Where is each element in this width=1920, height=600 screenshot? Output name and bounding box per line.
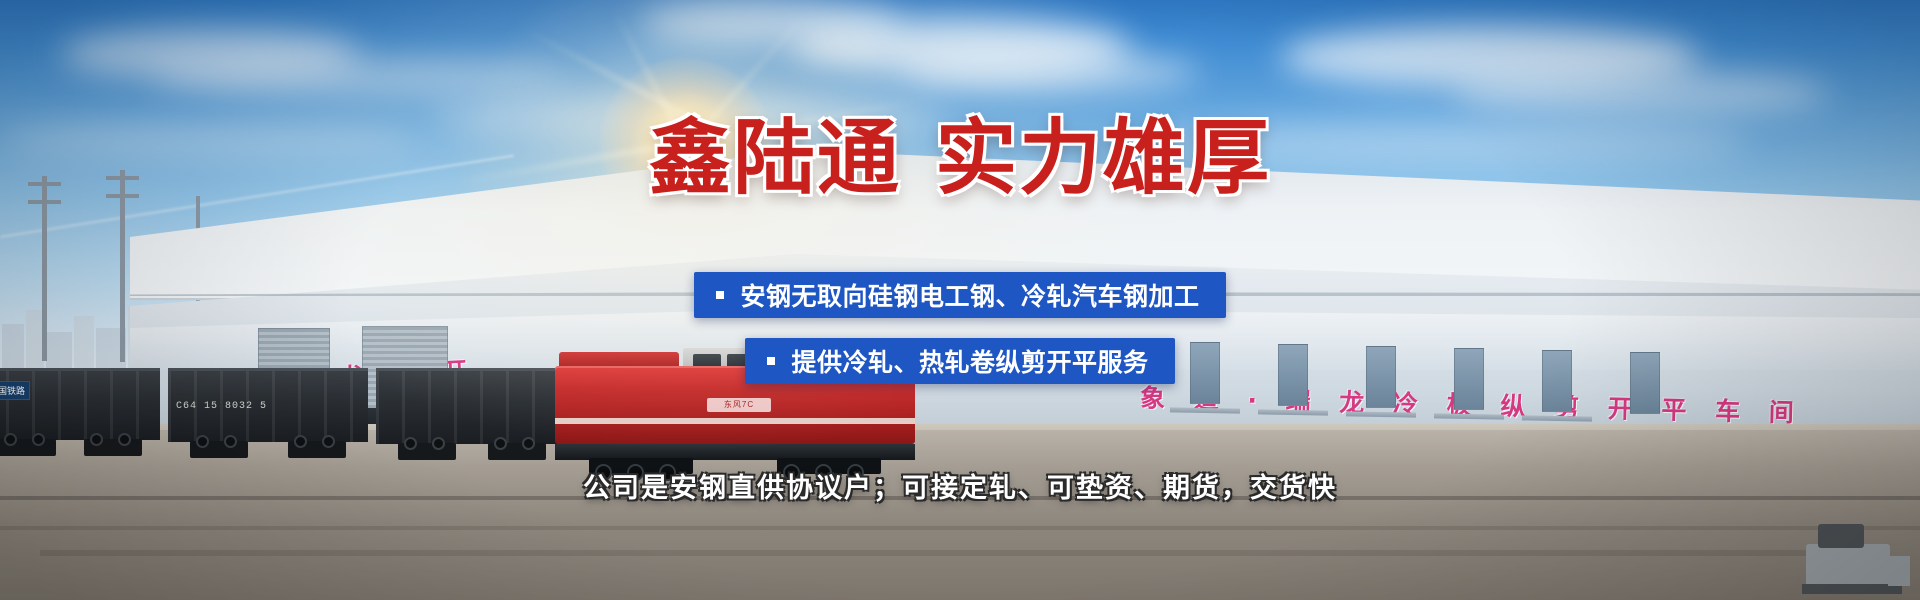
callout-item-1-label: 安钢无取向硅钢电工钢、冷轧汽车钢加工 [740,277,1199,313]
banner-content: 鑫陆通实力雄厚 安钢无取向硅钢电工钢、冷轧汽车钢加工 提供冷轧、热轧卷纵剪开平服… [0,0,1920,600]
tagline: 公司是安钢直供协议户；可接定轧、可垫资、期货，交货快 [0,466,1920,505]
square-bullet-icon [716,291,724,299]
headline-part-2: 实力雄厚 [935,111,1271,206]
headline: 鑫陆通实力雄厚 [0,118,1920,200]
callout-row: 提供冷轧、热轧卷纵剪开平服务 [0,338,1920,384]
callout-item-2[interactable]: 提供冷轧、热轧卷纵剪开平服务 [745,338,1174,384]
callout-item-2-label: 提供冷轧、热轧卷纵剪开平服务 [791,343,1148,379]
promo-banner: 象道·瑞龙纵剪开 象 道 · 瑞 龙 冷 板 纵 剪 开 平 车 间 0372-… [0,0,1920,600]
headline-part-1: 鑫陆通 [649,111,901,206]
callout-row: 安钢无取向硅钢电工钢、冷轧汽车钢加工 [0,272,1920,318]
callout-list: 安钢无取向硅钢电工钢、冷轧汽车钢加工 提供冷轧、热轧卷纵剪开平服务 [0,272,1920,384]
square-bullet-icon [767,357,775,365]
callout-item-1[interactable]: 安钢无取向硅钢电工钢、冷轧汽车钢加工 [694,272,1225,318]
